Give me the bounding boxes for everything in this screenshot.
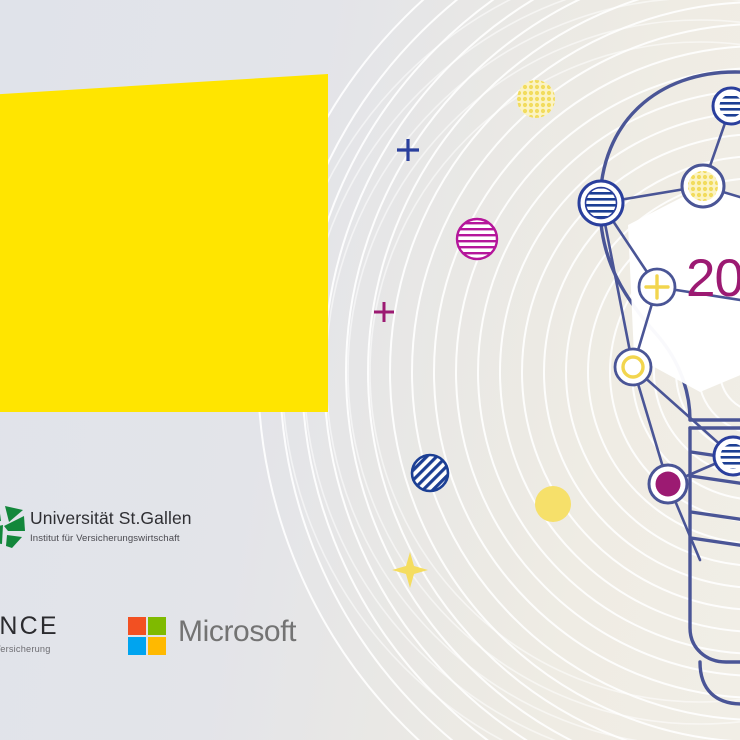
confetti-yellow-dotted-circle-top (517, 80, 555, 118)
university-institute: Institut für Versicherungswirtschaft (30, 533, 192, 544)
blue-square (128, 637, 146, 655)
node-blue-striped (579, 181, 623, 225)
university-st-gallen-logo: Universität St.Gallen Institut für Versi… (0, 500, 222, 584)
microsoft-logo: Microsoft (128, 613, 318, 661)
node-blue-striped-2 (714, 437, 740, 475)
confetti-yellow-star-plus (392, 552, 428, 588)
title-line-3: anz (0, 267, 330, 324)
confetti-blue-plus (397, 139, 419, 161)
microsoft-wordmark: Microsoft (178, 615, 296, 649)
year-label: 20 (686, 248, 740, 309)
node-yellow-ring (615, 349, 651, 385)
red-square (128, 617, 146, 635)
confetti-blue-diagonal-circle (412, 455, 448, 491)
title-line-1: vations- (0, 152, 330, 209)
university-name: Universität St.Gallen (30, 508, 192, 529)
amber-square (148, 637, 166, 655)
microsoft-squares (128, 617, 166, 655)
title-text-block: vations- r Schweizer anz (0, 58, 330, 418)
confetti-magenta-striped-circle (457, 219, 497, 259)
st-gallen-pinwheel-mark (0, 504, 28, 550)
node-magenta-solid (649, 465, 687, 503)
confetti-yellow-solid-circle (535, 486, 571, 522)
node-yellow-dotted (682, 165, 724, 207)
university-logo-text: Universität St.Gallen Institut für Versi… (30, 508, 192, 544)
poster-canvas: 20 vations- r Schweizer anz Universität … (0, 0, 740, 740)
node-yellow-plus (639, 269, 675, 305)
node-top-right (713, 88, 740, 124)
green-square (148, 617, 166, 635)
title-banner: vations- r Schweizer anz (0, 58, 330, 418)
confetti-magenta-plus (374, 302, 394, 322)
title-line-2: r Schweizer (0, 209, 330, 266)
